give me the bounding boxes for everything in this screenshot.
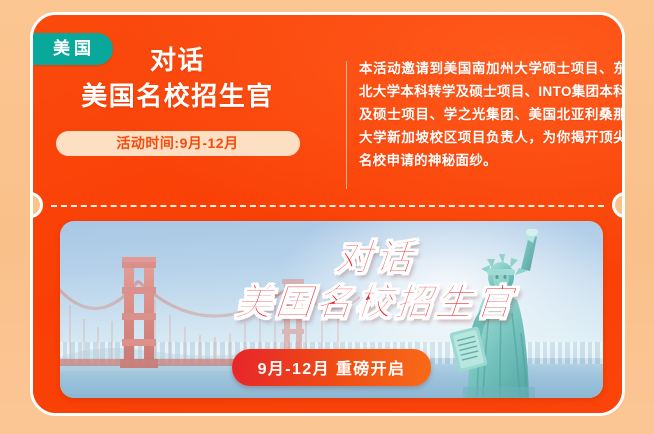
banner-headline: 对话 美国名校招生官 xyxy=(210,237,540,326)
banner-headline-line1: 对话 xyxy=(208,237,542,281)
card-header: 美国 对话 美国名校招生官 活动时间:9月-12月 本活动邀请到美国南加州大学硕… xyxy=(33,15,622,205)
page-title: 对话 美国名校招生官 xyxy=(39,43,316,115)
page-title-line2: 美国名校招生官 xyxy=(39,79,316,115)
page-title-line1: 对话 xyxy=(150,45,205,75)
promo-card: 美国 对话 美国名校招生官 活动时间:9月-12月 本活动邀请到美国南加州大学硕… xyxy=(30,12,625,416)
column-divider xyxy=(346,61,347,189)
dashed-divider xyxy=(51,205,604,207)
banner-headline-line2: 美国名校招生官 xyxy=(208,282,542,326)
promo-banner[interactable]: 对话 美国名校招生官 9月-12月 重磅开启 xyxy=(60,221,603,398)
event-time-badge: 活动时间:9月-12月 xyxy=(56,131,300,156)
header-right-column: 本活动邀请到美国南加州大学硕士项目、东北大学本科转学及硕士项目、INTO集团本科… xyxy=(359,57,625,172)
banner-cta-badge[interactable]: 9月-12月 重磅开启 xyxy=(232,349,432,386)
intro-paragraph: 本活动邀请到美国南加州大学硕士项目、东北大学本科转学及硕士项目、INTO集团本科… xyxy=(359,57,625,172)
header-left-column: 对话 美国名校招生官 活动时间:9月-12月 xyxy=(39,43,316,156)
